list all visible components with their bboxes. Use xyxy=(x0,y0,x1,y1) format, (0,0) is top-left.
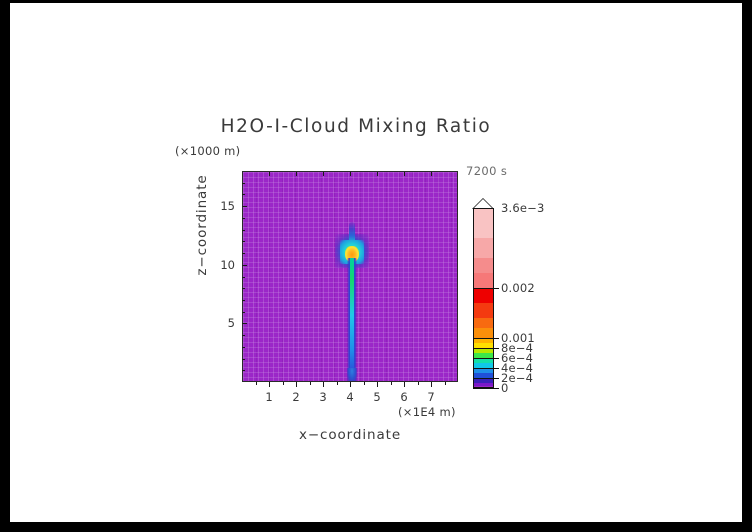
x-axis-tick xyxy=(269,382,270,387)
y-axis-unit-label: (×1000 m) xyxy=(175,144,240,158)
colorbar-tick xyxy=(494,368,499,369)
colorbar-band-separator xyxy=(473,348,494,349)
x-axis-tick-label: 7 xyxy=(421,390,441,404)
y-axis-minor-tick xyxy=(242,253,245,254)
x-axis-tick xyxy=(350,382,351,387)
x-axis-tick-label: 5 xyxy=(367,390,387,404)
y-axis-minor-tick xyxy=(242,241,245,242)
y-axis-minor-tick xyxy=(242,183,245,184)
y-axis-minor-tick xyxy=(242,347,245,348)
x-axis-minor-tick xyxy=(310,382,311,385)
x-axis-tick-top xyxy=(296,172,297,176)
x-axis-minor-tick xyxy=(445,382,446,385)
y-axis-title: z−coordinate xyxy=(194,165,210,285)
x-axis-tick-label: 4 xyxy=(340,390,360,404)
plume-overshoot-spire xyxy=(349,222,355,242)
figure-page: H2O-I-Cloud Mixing Ratio (×1000 m) 7200 … xyxy=(10,3,742,522)
y-axis-tick xyxy=(242,323,247,324)
x-axis-tick xyxy=(377,382,378,387)
x-axis-minor-tick xyxy=(337,382,338,385)
x-axis-tick xyxy=(296,382,297,387)
colorbar-band-separator xyxy=(473,388,494,389)
colorbar-tick xyxy=(494,338,499,339)
colorbar-band xyxy=(473,303,494,318)
y-axis-minor-tick xyxy=(242,335,245,336)
y-axis-tick-label: 15 xyxy=(213,199,235,213)
page-title: H2O-I-Cloud Mixing Ratio xyxy=(216,116,496,137)
colorbar-band-separator xyxy=(473,368,494,369)
x-axis-tick-label: 2 xyxy=(286,390,306,404)
x-axis-minor-tick xyxy=(364,382,365,385)
x-axis-tick-label: 1 xyxy=(259,390,279,404)
y-axis-minor-tick xyxy=(242,230,245,231)
time-stamp-label: 7200 s xyxy=(466,164,507,178)
x-axis-title: x−coordinate xyxy=(242,427,458,443)
colorbar-band xyxy=(473,318,494,328)
colorbar-tick xyxy=(494,378,499,379)
x-axis-tick xyxy=(323,382,324,387)
y-axis-minor-tick xyxy=(242,218,245,219)
y-axis-tick xyxy=(242,265,247,266)
y-axis-minor-tick xyxy=(242,194,245,195)
figure-outer-frame: H2O-I-Cloud Mixing Ratio (×1000 m) 7200 … xyxy=(0,0,752,532)
x-axis-minor-tick xyxy=(256,382,257,385)
x-axis-tick-label: 6 xyxy=(394,390,414,404)
x-axis-unit-label: (×1E4 m) xyxy=(398,405,456,419)
y-axis-tick xyxy=(242,206,247,207)
y-axis-minor-tick xyxy=(242,300,245,301)
x-axis-tick-top xyxy=(431,172,432,176)
x-axis-minor-tick xyxy=(418,382,419,385)
y-axis-tick-label: 5 xyxy=(213,316,235,330)
y-axis-minor-tick xyxy=(242,277,245,278)
colorbar-tick-label: 0.002 xyxy=(501,281,535,295)
colorbar-band-separator xyxy=(473,288,494,289)
colorbar[interactable] xyxy=(473,208,494,388)
colorbar-band xyxy=(473,328,494,338)
colorbar-band xyxy=(473,208,494,238)
colorbar-band-separator xyxy=(473,358,494,359)
x-axis-tick-top xyxy=(269,172,270,176)
x-axis-tick-label: 3 xyxy=(313,390,333,404)
colorbar-band-separator xyxy=(473,338,494,339)
colorbar-tick xyxy=(494,358,499,359)
x-axis-tick xyxy=(404,382,405,387)
x-axis-minor-tick xyxy=(283,382,284,385)
colorbar-band xyxy=(473,273,494,288)
colorbar-tick xyxy=(494,388,499,389)
y-axis-tick-label: 10 xyxy=(213,258,235,272)
y-axis-minor-tick xyxy=(242,359,245,360)
colorbar-band xyxy=(473,238,494,258)
plume-column xyxy=(350,258,354,382)
colorbar-tick-label: 0 xyxy=(501,381,509,395)
plot-canvas[interactable] xyxy=(242,171,458,382)
colorbar-tick xyxy=(494,348,499,349)
x-axis-tick-top xyxy=(323,172,324,176)
colorbar-tick xyxy=(494,288,499,289)
colorbar-tick-label: 3.6e−3 xyxy=(501,201,545,215)
y-axis-minor-tick xyxy=(242,288,245,289)
x-axis-tick-top xyxy=(377,172,378,176)
colorbar-band xyxy=(473,288,494,303)
y-axis-minor-tick xyxy=(242,312,245,313)
x-axis-minor-tick xyxy=(391,382,392,385)
plume-base xyxy=(347,368,357,382)
x-axis-tick xyxy=(431,382,432,387)
x-axis-tick-top xyxy=(404,172,405,176)
y-axis-minor-tick xyxy=(242,370,245,371)
colorbar-band-separator xyxy=(473,378,494,379)
colorbar-band xyxy=(473,258,494,273)
x-axis-tick-top xyxy=(350,172,351,176)
